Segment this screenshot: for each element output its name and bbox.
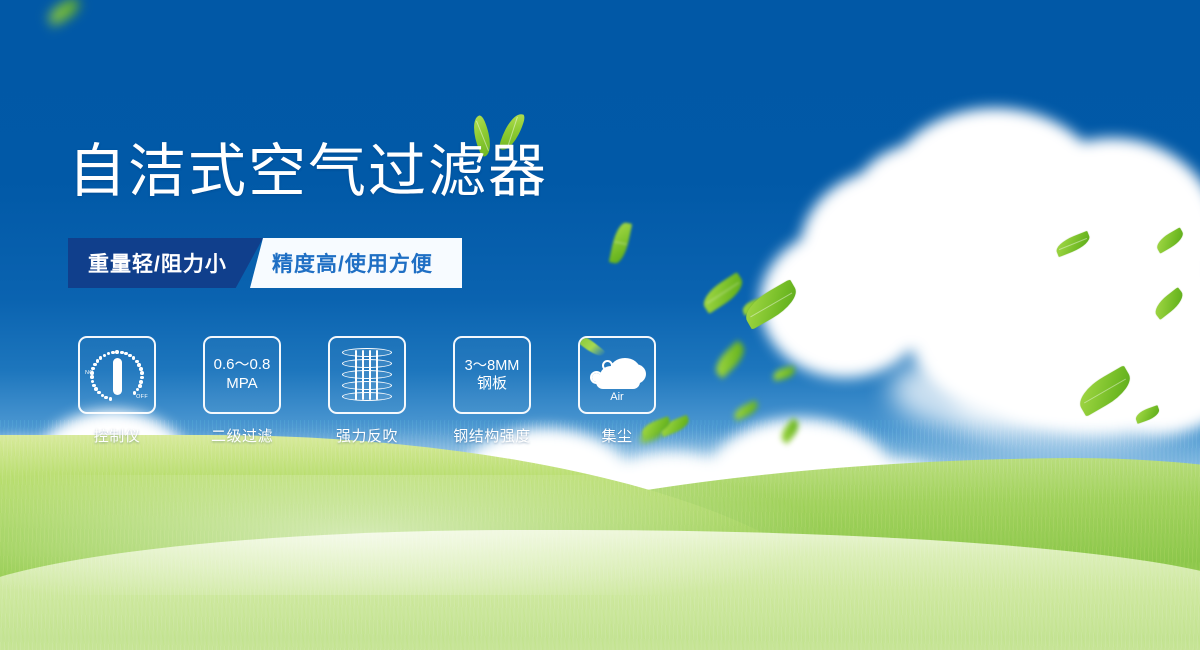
badge-right-segment: 精度高/使用方便	[250, 238, 462, 288]
gauge-tick	[91, 380, 95, 384]
feature-caption: 强力反吹	[336, 425, 398, 446]
grass-field	[0, 420, 1200, 650]
feature-caption: 二级过滤	[211, 425, 273, 446]
gauge-tick	[92, 384, 96, 388]
gauge-tick	[103, 354, 107, 358]
gauge-tick	[136, 388, 140, 392]
gauge-tick	[109, 397, 113, 401]
feature-badge: 重量轻/阻力小 精度高/使用方便	[68, 238, 462, 288]
foreground-meadow	[0, 530, 1200, 650]
pressure-text-icon: 0.6～0.8 MPA	[203, 336, 281, 414]
gauge-tick	[91, 367, 95, 371]
filter-stack-icon	[328, 336, 406, 414]
badge-left-segment: 重量轻/阻力小	[68, 238, 263, 288]
gauge-tick	[90, 375, 94, 379]
gauge-tick	[120, 351, 124, 355]
feature-item-control[interactable]: NO OFF 控制仪	[78, 336, 156, 446]
gauge-needle	[113, 358, 122, 395]
gauge-tick	[93, 363, 97, 367]
gauge-tick	[96, 359, 100, 363]
page-title: 自洁式空气过滤器	[68, 143, 548, 201]
gauge-tick	[115, 350, 119, 354]
gauge-graphic: NO OFF	[86, 346, 148, 404]
filter-stack-graphic	[342, 348, 392, 402]
steel-thickness: 3～8MM	[465, 357, 520, 375]
air-label: Air	[588, 391, 646, 403]
gauge-tick	[90, 371, 94, 375]
gauge-tick	[140, 376, 144, 380]
feature-caption: 钢结构强度	[453, 425, 531, 446]
pressure-value: 0.6～0.8	[214, 356, 271, 375]
feature-item-blowback[interactable]: 强力反吹	[328, 336, 406, 446]
feature-item-steel[interactable]: 3～8MM 钢板 钢结构强度	[453, 336, 531, 446]
leaf-streak	[578, 336, 605, 359]
gauge-tick	[124, 352, 128, 356]
gauge-tick	[139, 380, 143, 384]
product-banner: 自洁式空气过滤器 重量轻/阻力小 精度高/使用方便 NO OFF 控制仪 0.6…	[0, 0, 1200, 650]
feature-caption: 集尘	[601, 425, 632, 446]
steel-plate-icon: 3～8MM 钢板	[453, 336, 531, 414]
gauge-tick	[138, 384, 142, 388]
gauge-tick	[139, 367, 143, 371]
gauge-tick	[99, 356, 103, 360]
gauge-tick	[111, 351, 115, 355]
pressure-unit: MPA	[226, 375, 257, 394]
steel-material: 钢板	[477, 375, 507, 394]
gauge-label-off: OFF	[136, 394, 148, 400]
feature-caption: 控制仪	[94, 425, 141, 446]
air-cloud-graphic: Air	[588, 350, 646, 400]
air-cloud-icon: Air	[578, 336, 656, 414]
feature-item-pressure[interactable]: 0.6～0.8 MPA 二级过滤	[203, 336, 281, 446]
gauge-tick	[104, 396, 108, 400]
gauge-dial-icon: NO OFF	[78, 336, 156, 414]
gauge-tick	[140, 371, 144, 375]
gauge-tick	[107, 352, 111, 356]
feature-list: NO OFF 控制仪 0.6～0.8 MPA 二级过滤	[78, 336, 656, 446]
